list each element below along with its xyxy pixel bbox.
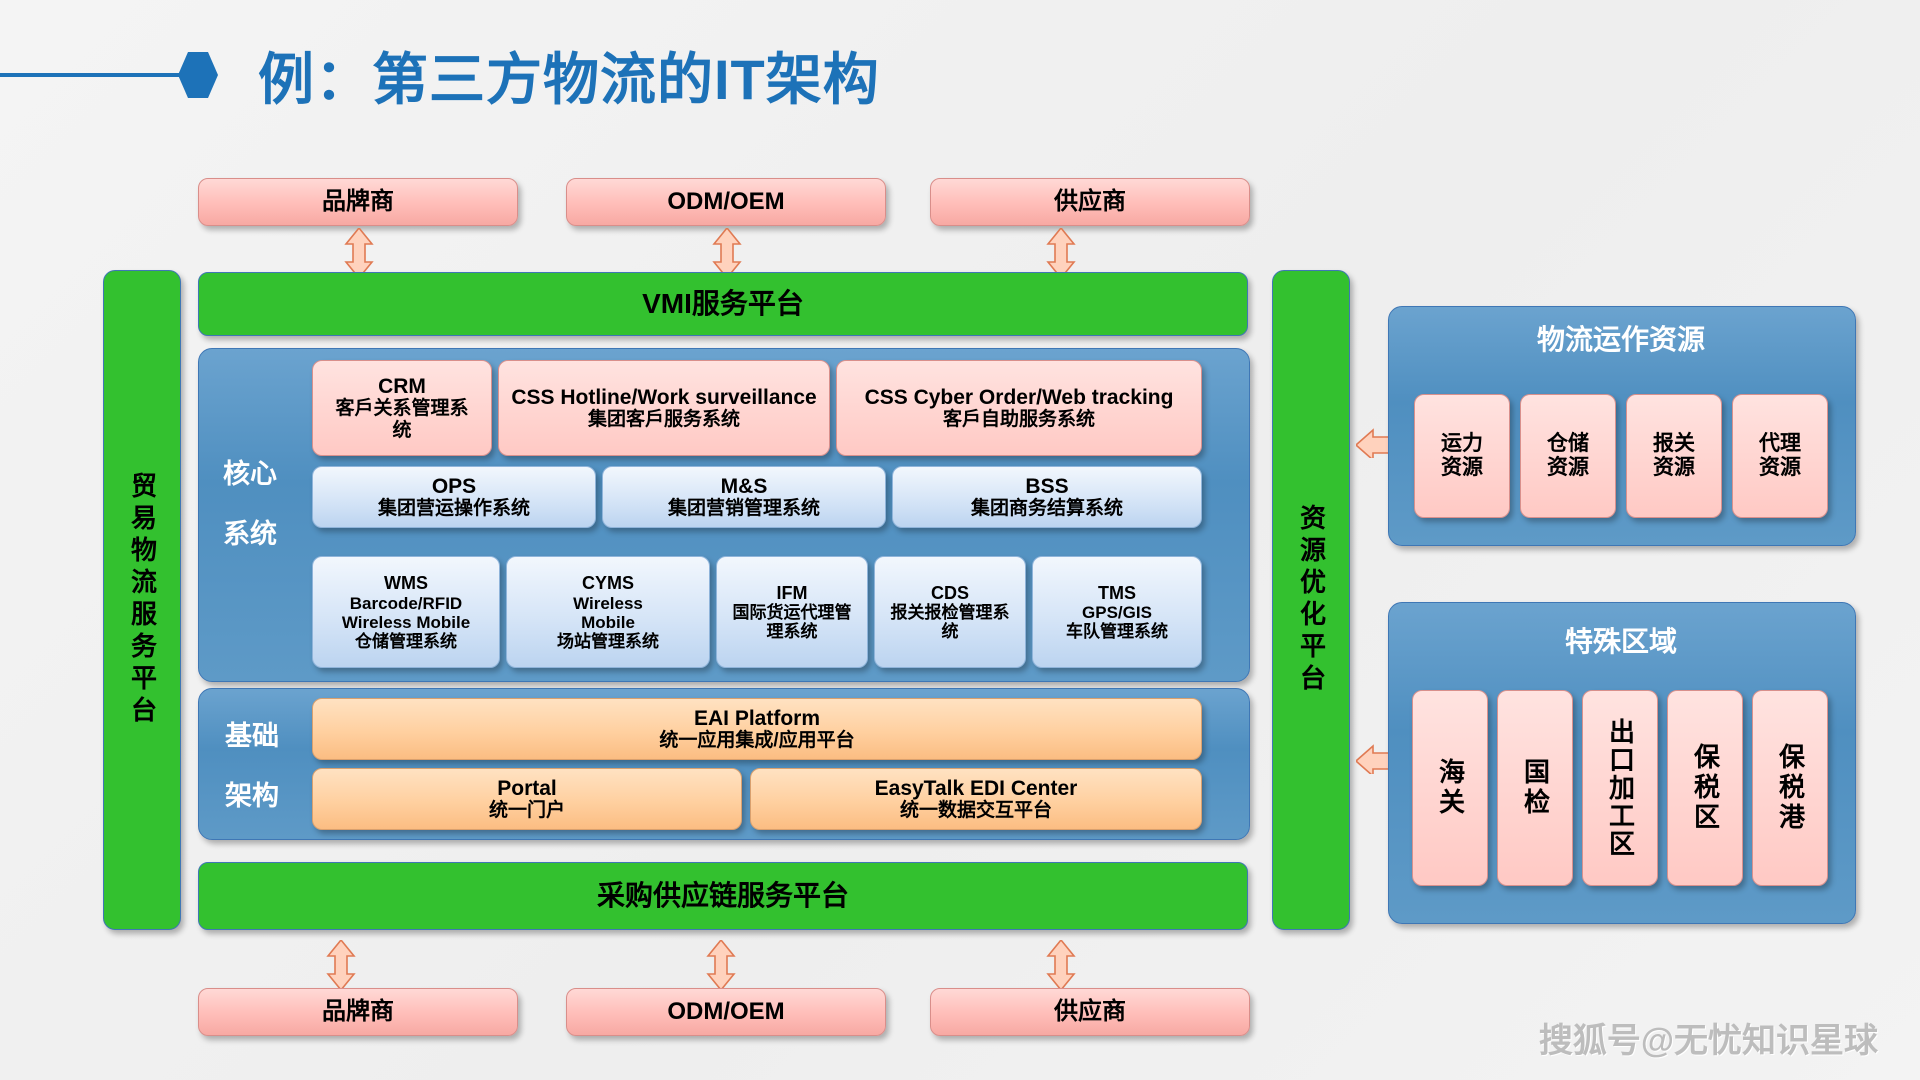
arrow-bottom-2 (1046, 940, 1076, 990)
core-row1-item-0[interactable]: CRM 客戶关系管理系统 (312, 360, 492, 456)
core-row2-item-0[interactable]: OPS 集团营运操作系统 (312, 466, 596, 528)
infra-row2-item-1-cn: 统一数据交互平台 (900, 800, 1052, 821)
core-systems-label-1: 核心 (214, 452, 286, 491)
arrow-top-2 (1046, 228, 1076, 278)
core-row3-item-1-mid: Wireless Mobile (548, 594, 668, 632)
core-row1-item-2-cn: 客戶自助服务系统 (943, 409, 1095, 430)
logistics-resource-item-3-l2: 资源 (1759, 456, 1801, 480)
infra-row1-item-0[interactable]: EAI Platform 统一应用集成/应用平台 (312, 698, 1202, 760)
core-row3-item-1-cn: 场站管理系统 (557, 632, 659, 651)
core-row2-item-0-en: OPS (432, 475, 476, 499)
special-zones-title: 特殊区域 (1388, 620, 1854, 660)
core-row1-item-0-en: CRM (378, 375, 426, 399)
special-zone-item-0[interactable]: 海关 (1412, 690, 1488, 886)
infra-row2-item-0-cn: 统一门户 (489, 800, 565, 821)
bottom-partner-1[interactable]: ODM/OEM (566, 988, 886, 1036)
top-partner-2[interactable]: 供应商 (930, 178, 1250, 226)
top-partner-0[interactable]: 品牌商 (198, 178, 518, 226)
right-platform-bar[interactable]: 资源优化平台 (1272, 270, 1350, 930)
core-row1-item-0-cn: 客戶关系管理系统 (327, 398, 477, 441)
special-zone-item-2[interactable]: 出口加工区 (1582, 690, 1658, 886)
logistics-resource-item-0-l2: 资源 (1441, 456, 1483, 480)
special-zone-item-0-label: 海关 (1435, 758, 1464, 818)
bottom-partner-2[interactable]: 供应商 (930, 988, 1250, 1036)
core-row3-item-1[interactable]: CYMS Wireless Mobile 场站管理系统 (506, 556, 710, 668)
core-row3-item-4-mid: GPS/GIS (1082, 603, 1152, 622)
special-zone-item-4[interactable]: 保税港 (1752, 690, 1828, 886)
page-title: 例：第三方物流的IT架构 (0, 40, 1000, 110)
logistics-resources-title: 物流运作资源 (1388, 318, 1854, 358)
core-row2-item-1[interactable]: M&S 集团营销管理系统 (602, 466, 886, 528)
arrow-bottom-0 (326, 940, 356, 990)
logistics-resource-item-0-l1: 运力 (1441, 432, 1483, 456)
infra-row2-item-1-en: EasyTalk EDI Center (875, 777, 1078, 801)
logistics-resource-item-3[interactable]: 代理 资源 (1732, 394, 1828, 518)
top-partner-1[interactable]: ODM/OEM (566, 178, 886, 226)
core-row3-item-1-en: CYMS (582, 573, 634, 593)
procurement-platform[interactable]: 采购供应链服务平台 (198, 862, 1248, 930)
core-row3-item-3[interactable]: CDS 报关报检管理系统 (874, 556, 1026, 668)
core-row3-item-2-en: IFM (777, 583, 808, 603)
core-row3-item-0[interactable]: WMS Barcode/RFID Wireless Mobile 仓储管理系统 (312, 556, 500, 668)
infra-row1-item-0-cn: 统一应用集成/应用平台 (659, 730, 854, 751)
special-zone-item-3-label: 保税区 (1690, 743, 1719, 833)
core-row3-item-2-cn: 国际货运代理管理系统 (730, 603, 854, 641)
logistics-resource-item-1[interactable]: 仓储 资源 (1520, 394, 1616, 518)
core-row1-item-2-en: CSS Cyber Order/Web tracking (865, 386, 1174, 410)
core-row3-item-0-cn: 仓储管理系统 (355, 632, 457, 651)
slide-canvas: 例：第三方物流的IT架构 品牌商 ODM/OEM 供应商 贸易物流服务平台 VM… (0, 0, 1920, 1080)
core-row3-item-4[interactable]: TMS GPS/GIS 车队管理系统 (1032, 556, 1202, 668)
core-row2-item-2[interactable]: BSS 集团商务结算系统 (892, 466, 1202, 528)
infra-label-1: 基础 (214, 714, 290, 753)
logistics-resource-item-0[interactable]: 运力 资源 (1414, 394, 1510, 518)
page-title-text: 例：第三方物流的IT架构 (258, 35, 880, 116)
core-row3-item-3-en: CDS (931, 583, 969, 603)
infra-row2-item-0-en: Portal (497, 777, 557, 801)
core-row3-item-3-cn: 报关报检管理系统 (888, 603, 1012, 641)
logistics-resource-item-3-l1: 代理 (1759, 432, 1801, 456)
core-row2-item-2-cn: 集团商务结算系统 (971, 498, 1123, 519)
infra-label-2: 架构 (214, 774, 290, 813)
core-row3-item-4-cn: 车队管理系统 (1066, 622, 1168, 641)
core-row2-item-0-cn: 集团营运操作系统 (378, 498, 530, 519)
core-row1-item-2[interactable]: CSS Cyber Order/Web tracking 客戶自助服务系统 (836, 360, 1202, 456)
core-row2-item-1-cn: 集团营销管理系统 (668, 498, 820, 519)
core-row3-item-0-en: WMS (384, 573, 428, 593)
core-row3-item-4-en: TMS (1098, 583, 1136, 603)
bottom-partner-0[interactable]: 品牌商 (198, 988, 518, 1036)
special-zone-item-4-label: 保税港 (1775, 743, 1804, 833)
logistics-resource-item-1-l1: 仓储 (1547, 432, 1589, 456)
core-row1-item-1-cn: 集团客戶服务系统 (588, 409, 740, 430)
left-platform-label: 贸易物流服务平台 (127, 472, 156, 728)
title-rule (0, 73, 180, 77)
special-zone-item-3[interactable]: 保税区 (1667, 690, 1743, 886)
core-row3-item-2[interactable]: IFM 国际货运代理管理系统 (716, 556, 868, 668)
core-row1-item-1[interactable]: CSS Hotline/Work surveillance 集团客戶服务系统 (498, 360, 830, 456)
arrow-top-0 (344, 228, 374, 278)
right-platform-label: 资源优化平台 (1296, 504, 1325, 696)
arrow-top-1 (712, 228, 742, 278)
logistics-resource-item-2[interactable]: 报关 资源 (1626, 394, 1722, 518)
watermark: 搜狐号@无忧知识星球 (1539, 1013, 1878, 1062)
left-platform-bar[interactable]: 贸易物流服务平台 (103, 270, 181, 930)
core-row3-item-0-mid: Barcode/RFID Wireless Mobile (320, 594, 492, 632)
core-systems-label-2: 系统 (214, 512, 286, 551)
special-zone-item-2-label: 出口加工区 (1605, 718, 1634, 858)
logistics-resource-item-1-l2: 资源 (1547, 456, 1589, 480)
infra-row2-item-1[interactable]: EasyTalk EDI Center 统一数据交互平台 (750, 768, 1202, 830)
special-zone-item-1[interactable]: 国检 (1497, 690, 1573, 886)
arrow-bottom-1 (706, 940, 736, 990)
infra-row1-item-0-en: EAI Platform (694, 707, 820, 731)
vmi-platform[interactable]: VMI服务平台 (198, 272, 1248, 336)
logistics-resource-item-2-l2: 资源 (1653, 456, 1695, 480)
logistics-resource-item-2-l1: 报关 (1653, 432, 1695, 456)
hexagon-bullet-icon (178, 52, 218, 98)
core-row2-item-2-en: BSS (1025, 475, 1068, 499)
core-row2-item-1-en: M&S (721, 475, 768, 499)
special-zone-item-1-label: 国检 (1520, 758, 1549, 818)
infra-row2-item-0[interactable]: Portal 统一门户 (312, 768, 742, 830)
core-row1-item-1-en: CSS Hotline/Work surveillance (511, 386, 816, 410)
